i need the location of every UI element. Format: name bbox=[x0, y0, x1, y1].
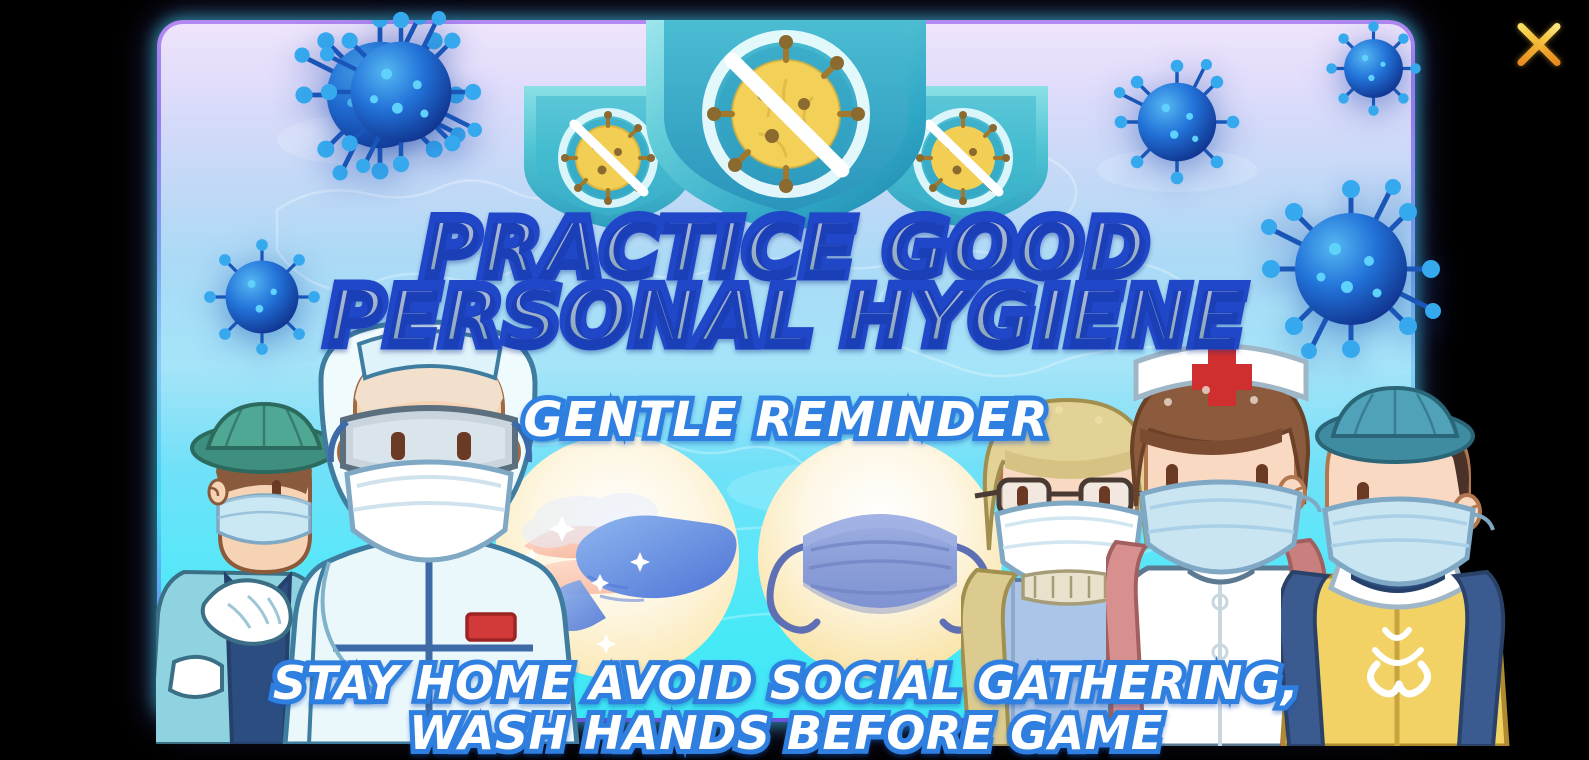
hygiene-poster-panel[interactable]: PRACTICE GOOD PERSONAL HYGIENE GENTLE RE… bbox=[157, 20, 1415, 722]
medical-worker-ppe-goggles bbox=[281, 314, 581, 744]
virus-particle-icon bbox=[1321, 16, 1426, 121]
close-icon[interactable] bbox=[1507, 12, 1571, 76]
virus-particle-icon bbox=[1251, 169, 1451, 369]
screen-root: PRACTICE GOOD PERSONAL HYGIENE GENTLE RE… bbox=[0, 0, 1589, 760]
shield-virus-blocked-icon bbox=[636, 20, 936, 234]
virus-particle-icon bbox=[311, 2, 491, 182]
virus-particle-icon bbox=[1107, 52, 1247, 192]
person-teal-cap-yellow-jacket bbox=[1281, 364, 1516, 746]
shield-cluster bbox=[526, 20, 1046, 244]
